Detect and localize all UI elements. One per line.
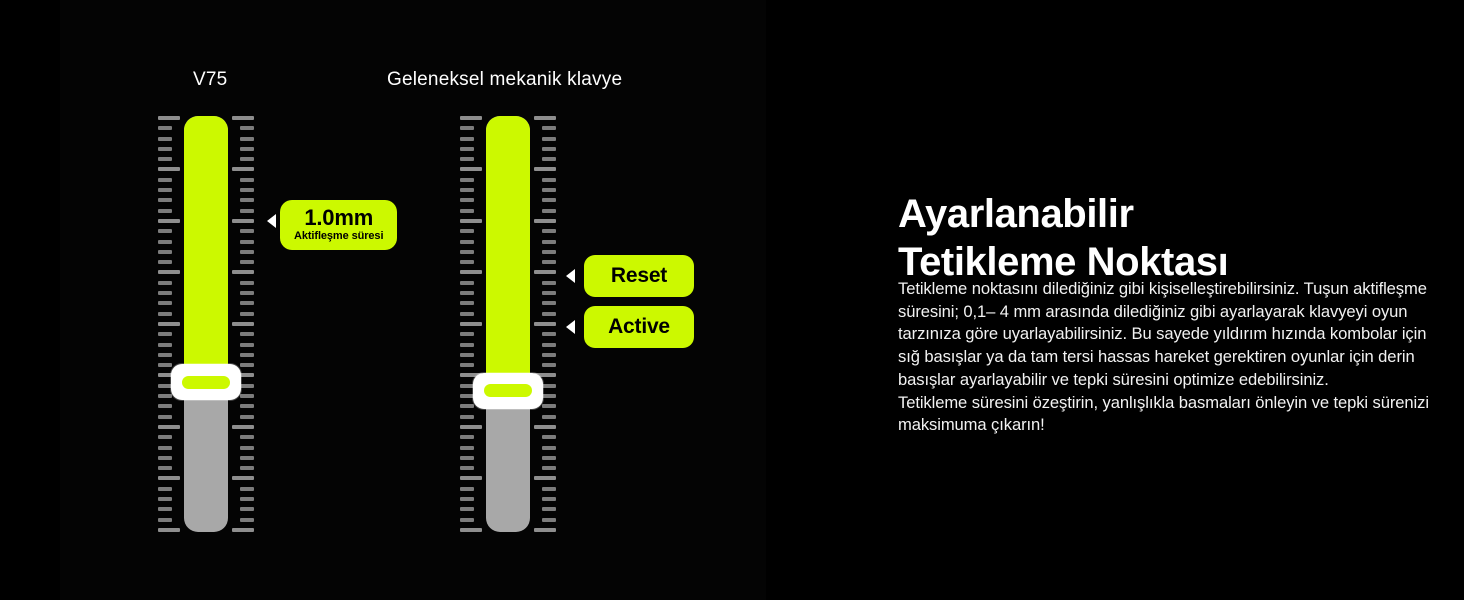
ruler-tick xyxy=(158,260,172,264)
actuation-callout-badge: 1.0mm Aktifleşme süresi xyxy=(280,200,397,250)
active-button[interactable]: Active xyxy=(584,306,694,348)
ruler-tick xyxy=(542,240,556,244)
ruler-tick xyxy=(240,147,254,151)
ruler-tick xyxy=(460,425,482,429)
ruler-tick xyxy=(460,332,474,336)
ruler-tick xyxy=(240,137,254,141)
ruler-tick xyxy=(240,198,254,202)
ruler-tick xyxy=(460,137,474,141)
ruler-tick xyxy=(460,528,482,532)
ruler-tick xyxy=(158,188,172,192)
active-pointer-icon xyxy=(566,320,575,334)
ruler-tick xyxy=(460,240,474,244)
ruler-tick xyxy=(534,476,556,480)
ruler-tick xyxy=(534,270,556,274)
copy-panel: Ayarlanabilir Tetikleme Noktası Tetiklem… xyxy=(898,0,1438,600)
ruler-tick xyxy=(460,456,474,460)
description-paragraph: Tetikleme noktasını dilediğiniz gibi kiş… xyxy=(898,278,1434,392)
ruler-tick xyxy=(542,435,556,439)
ruler-tick xyxy=(542,157,556,161)
ruler-tick xyxy=(542,394,556,398)
ruler-tick xyxy=(460,270,482,274)
ruler-tick xyxy=(232,425,254,429)
ruler-tick xyxy=(460,353,474,357)
callout-value: 1.0mm xyxy=(294,206,383,229)
ruler-tick xyxy=(460,157,474,161)
ruler-tick xyxy=(460,384,474,388)
ruler-tick xyxy=(460,198,474,202)
ruler-tick xyxy=(158,270,180,274)
ruler-tick xyxy=(460,188,474,192)
ruler-tick xyxy=(240,384,254,388)
ruler-tick xyxy=(158,476,180,480)
ruler-tick xyxy=(158,353,172,357)
slider-fill xyxy=(486,116,530,391)
ruler-tick xyxy=(240,229,254,233)
ruler-tick xyxy=(240,456,254,460)
ruler-tick xyxy=(460,178,474,182)
ruler-tick xyxy=(460,507,474,511)
ruler-tick xyxy=(158,404,172,408)
ruler-tick xyxy=(542,343,556,347)
ruler-tick xyxy=(460,219,482,223)
ruler-tick xyxy=(542,363,556,367)
ruler-tick xyxy=(460,497,474,501)
slider-track[interactable] xyxy=(486,116,530,532)
ruler-tick xyxy=(240,332,254,336)
page-title: Ayarlanabilir Tetikleme Noktası xyxy=(898,190,1428,287)
ruler-ticks-left xyxy=(460,116,484,532)
ruler-tick xyxy=(158,518,172,522)
ruler-tick xyxy=(542,332,556,336)
ruler-tick xyxy=(158,487,172,491)
ruler-tick xyxy=(240,281,254,285)
ruler-tick xyxy=(158,178,172,182)
illustration-panel: V75 Geleneksel mekanik klavye xyxy=(60,0,766,600)
ruler-tick xyxy=(542,384,556,388)
ruler-tick xyxy=(240,260,254,264)
headline-line-1: Ayarlanabilir xyxy=(898,192,1134,236)
ruler-tick xyxy=(158,229,172,233)
ruler-tick xyxy=(460,404,474,408)
ruler-tick xyxy=(158,363,172,367)
ruler-tick xyxy=(542,507,556,511)
ruler-tick xyxy=(542,301,556,305)
ruler-tick xyxy=(542,312,556,316)
ruler-tick xyxy=(158,116,180,120)
ruler-tick xyxy=(542,404,556,408)
ruler-tick xyxy=(542,229,556,233)
ruler-tick xyxy=(158,126,172,130)
ruler-tick xyxy=(232,219,254,223)
ruler-tick xyxy=(232,167,254,171)
ruler-tick xyxy=(460,167,482,171)
slider-thumb[interactable] xyxy=(473,373,543,409)
ruler-tick xyxy=(240,404,254,408)
ruler-tick xyxy=(158,497,172,501)
ruler-tick xyxy=(460,363,474,367)
ruler-tick xyxy=(158,250,172,254)
ruler-tick xyxy=(460,322,482,326)
ruler-tick xyxy=(460,487,474,491)
ruler-tick xyxy=(158,425,180,429)
ruler-tick xyxy=(232,476,254,480)
ruler-tick xyxy=(542,353,556,357)
ruler-tick xyxy=(534,167,556,171)
ruler-tick xyxy=(158,157,172,161)
ruler-tick xyxy=(542,260,556,264)
ruler-tick xyxy=(534,219,556,223)
ruler-tick xyxy=(240,518,254,522)
ruler-tick xyxy=(158,312,172,316)
ruler-tick xyxy=(534,425,556,429)
ruler-tick xyxy=(240,188,254,192)
ruler-tick xyxy=(240,507,254,511)
v75-actuation-slider[interactable] xyxy=(158,116,254,532)
ruler-tick xyxy=(460,415,474,419)
ruler-tick xyxy=(158,240,172,244)
ruler-tick xyxy=(240,446,254,450)
ruler-tick xyxy=(158,466,172,470)
ruler-tick xyxy=(158,456,172,460)
ruler-tick xyxy=(240,353,254,357)
ruler-tick xyxy=(542,281,556,285)
ruler-ticks-right xyxy=(532,116,556,532)
ruler-tick xyxy=(158,137,172,141)
ruler-ticks-left xyxy=(158,116,182,532)
ruler-tick xyxy=(460,281,474,285)
slider-fill xyxy=(184,116,228,382)
ruler-tick xyxy=(534,322,556,326)
ruler-tick xyxy=(460,312,474,316)
reset-pointer-icon xyxy=(566,269,575,283)
ruler-tick xyxy=(240,466,254,470)
ruler-tick xyxy=(240,415,254,419)
ruler-tick xyxy=(542,446,556,450)
description-text: Tetikleme noktasını dilediğiniz gibi kiş… xyxy=(898,278,1434,437)
column-title-traditional: Geleneksel mekanik klavye xyxy=(387,69,622,91)
ruler-tick xyxy=(158,301,172,305)
ruler-tick xyxy=(460,476,482,480)
ruler-tick xyxy=(542,497,556,501)
ruler-tick xyxy=(232,528,254,532)
ruler-tick xyxy=(542,209,556,213)
ruler-tick xyxy=(232,322,254,326)
ruler-tick xyxy=(460,250,474,254)
slider-track[interactable] xyxy=(184,116,228,532)
ruler-tick xyxy=(232,270,254,274)
ruler-tick xyxy=(460,446,474,450)
ruler-tick xyxy=(542,137,556,141)
ruler-tick xyxy=(240,240,254,244)
ruler-tick xyxy=(542,147,556,151)
ruler-tick xyxy=(158,167,180,171)
ruler-tick xyxy=(542,198,556,202)
column-title-v75: V75 xyxy=(193,69,227,91)
ruler-tick xyxy=(542,126,556,130)
ruler-tick xyxy=(158,415,172,419)
ruler-tick xyxy=(240,126,254,130)
ruler-tick xyxy=(240,487,254,491)
ruler-tick xyxy=(460,229,474,233)
reset-button[interactable]: Reset xyxy=(584,255,694,297)
ruler-tick xyxy=(158,394,172,398)
ruler-tick xyxy=(240,209,254,213)
ruler-ticks-right xyxy=(230,116,254,532)
ruler-tick xyxy=(240,291,254,295)
ruler-tick xyxy=(534,116,556,120)
ruler-tick xyxy=(542,178,556,182)
ruler-tick xyxy=(240,497,254,501)
slider-thumb-grip xyxy=(182,376,230,389)
callout-label: Aktifleşme süresi xyxy=(294,230,383,243)
ruler-tick xyxy=(240,394,254,398)
ruler-tick xyxy=(460,260,474,264)
ruler-tick xyxy=(542,188,556,192)
ruler-tick xyxy=(542,291,556,295)
ruler-tick xyxy=(158,384,172,388)
ruler-tick xyxy=(542,518,556,522)
ruler-tick xyxy=(460,343,474,347)
traditional-keyboard-slider[interactable] xyxy=(460,116,556,532)
description-paragraph: Tetikleme süresini özeştirin, yanlışlıkl… xyxy=(898,392,1434,437)
ruler-tick xyxy=(158,219,180,223)
ruler-tick xyxy=(542,415,556,419)
ruler-tick xyxy=(158,343,172,347)
ruler-tick xyxy=(158,291,172,295)
ruler-tick xyxy=(460,518,474,522)
ruler-tick xyxy=(158,198,172,202)
ruler-tick xyxy=(460,301,474,305)
ruler-tick xyxy=(542,250,556,254)
ruler-tick xyxy=(158,507,172,511)
slider-thumb-grip xyxy=(484,384,532,397)
ruler-tick xyxy=(158,209,172,213)
ruler-tick xyxy=(158,528,180,532)
ruler-tick xyxy=(240,157,254,161)
ruler-tick xyxy=(460,435,474,439)
ruler-tick xyxy=(240,178,254,182)
callout-pointer-icon xyxy=(267,214,276,228)
ruler-tick xyxy=(460,209,474,213)
ruler-tick xyxy=(158,281,172,285)
ruler-tick xyxy=(240,312,254,316)
ruler-tick xyxy=(460,126,474,130)
ruler-tick xyxy=(542,456,556,460)
ruler-tick xyxy=(534,528,556,532)
ruler-tick xyxy=(158,322,180,326)
ruler-tick xyxy=(240,435,254,439)
ruler-tick xyxy=(542,466,556,470)
ruler-tick xyxy=(158,435,172,439)
promo-banner: V75 Geleneksel mekanik klavye xyxy=(0,0,1464,600)
ruler-tick xyxy=(240,250,254,254)
slider-thumb[interactable] xyxy=(171,364,241,400)
ruler-tick xyxy=(460,291,474,295)
ruler-tick xyxy=(460,394,474,398)
ruler-tick xyxy=(158,332,172,336)
ruler-tick xyxy=(542,487,556,491)
ruler-tick xyxy=(240,343,254,347)
ruler-tick xyxy=(460,116,482,120)
ruler-tick xyxy=(460,147,474,151)
ruler-tick xyxy=(158,147,172,151)
ruler-tick xyxy=(232,116,254,120)
ruler-tick xyxy=(158,446,172,450)
ruler-tick xyxy=(240,363,254,367)
ruler-tick xyxy=(240,301,254,305)
ruler-tick xyxy=(460,466,474,470)
